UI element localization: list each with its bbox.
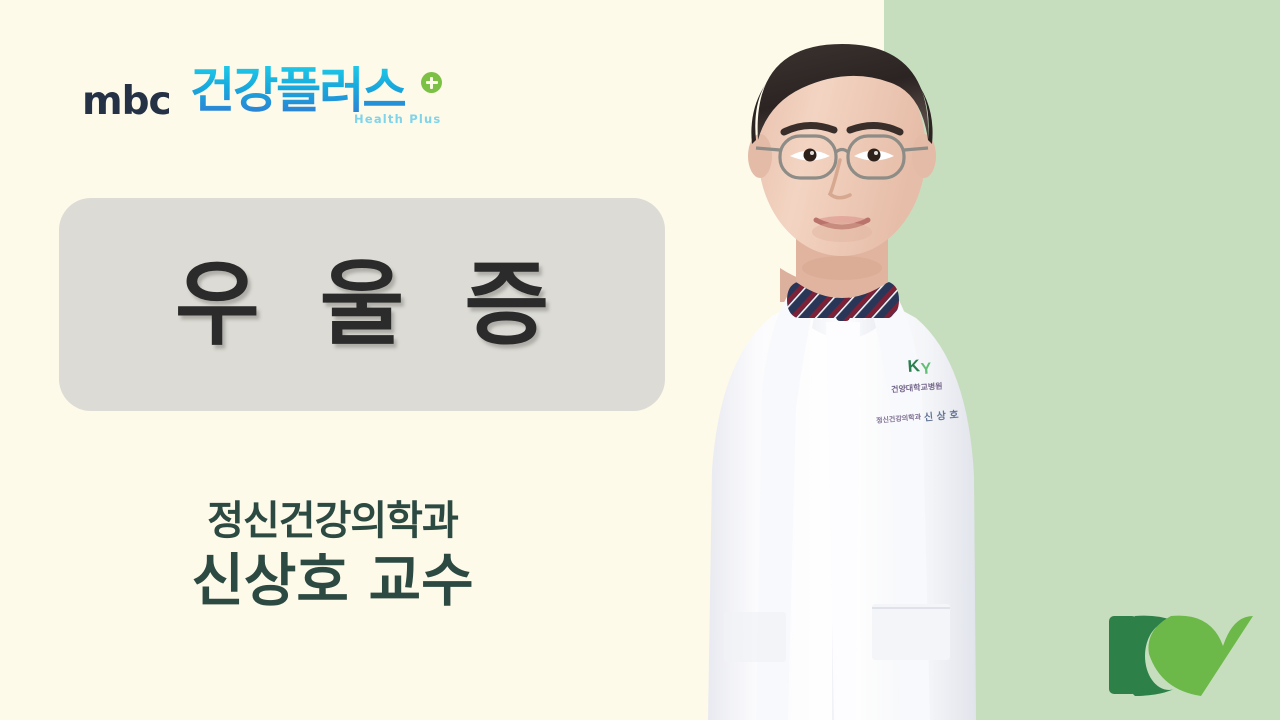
mbc-health-plus-logo: mbc 건강플러스 Health Plus — [82, 62, 462, 144]
title-card-slide: K Y 건양대학교병원 정신건강의학과 신 상 호 mbc 건강플러스 Heal… — [0, 0, 1280, 720]
topic-title-text: 우 울 증 — [161, 259, 563, 351]
speaker-credit: 정신건강의학과 신상호 교수 — [0, 498, 665, 615]
speaker-name: 신상호 교수 — [0, 548, 665, 615]
ky-university-logo — [1109, 614, 1253, 696]
svg-text:K: K — [907, 356, 921, 376]
plus-circle-icon — [421, 72, 442, 93]
svg-text:Y: Y — [920, 360, 932, 378]
speaker-department: 정신건강의학과 — [0, 498, 665, 544]
topic-title-card: 우 울 증 — [59, 198, 665, 411]
mbc-wordmark: mbc — [82, 82, 171, 121]
health-plus-korean-wordmark: 건강플러스 — [190, 66, 405, 115]
doctor-portrait: K Y 건양대학교병원 정신건강의학과 신 상 호 — [620, 0, 1040, 720]
health-plus-subtitle: Health Plus — [354, 114, 441, 126]
